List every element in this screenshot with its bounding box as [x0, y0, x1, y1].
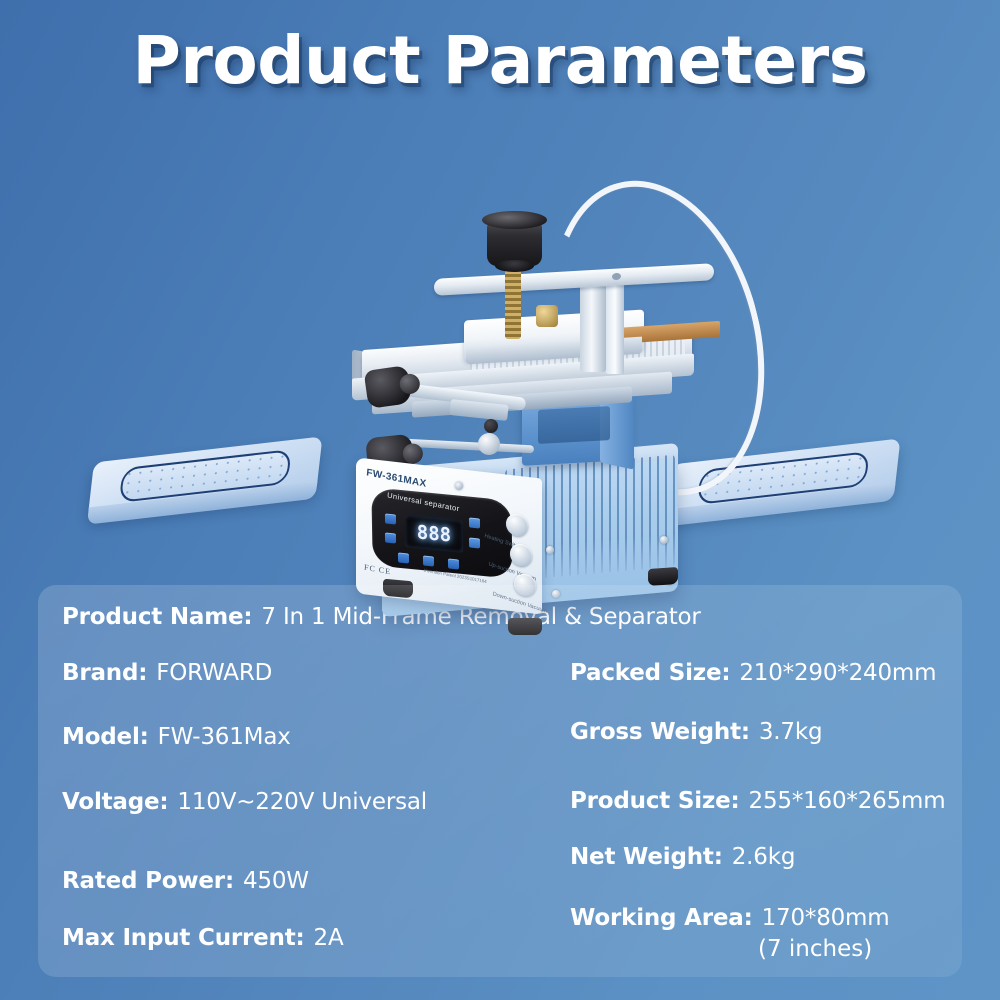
alignment-arm-lower [404, 439, 534, 454]
screw-icon [546, 546, 554, 554]
support-post-left [580, 280, 606, 372]
adjust-wheel-cap[interactable] [484, 419, 498, 433]
panel-button-set[interactable] [385, 513, 396, 524]
screw-icon [455, 482, 463, 490]
brass-fitting [536, 305, 558, 327]
accessory-mold-plate-left [87, 436, 322, 519]
machine-foot [648, 567, 678, 586]
panel-button-b[interactable] [423, 555, 434, 566]
riser-slot [538, 406, 610, 444]
adjust-wheel[interactable] [478, 433, 500, 455]
support-post-right [606, 274, 624, 374]
panel-button-c[interactable] [448, 558, 459, 569]
panel-button-a[interactable] [398, 552, 409, 563]
panel-button-down-arrow[interactable] [469, 537, 480, 548]
product-image: FW-361MAX Universal separator 888 Heatin… [0, 90, 1000, 580]
led-display: 888 [405, 515, 464, 553]
screw-icon [660, 536, 668, 544]
panel-button-up-arrow[interactable] [469, 517, 480, 528]
led-display-value: 888 [417, 523, 452, 545]
panel-button-mode[interactable] [385, 532, 396, 543]
page-title: Product Parameters [132, 22, 867, 99]
spec-card [38, 585, 962, 977]
threaded-screw-shaft[interactable] [505, 265, 521, 339]
pressure-adjust-knob[interactable] [487, 220, 542, 266]
